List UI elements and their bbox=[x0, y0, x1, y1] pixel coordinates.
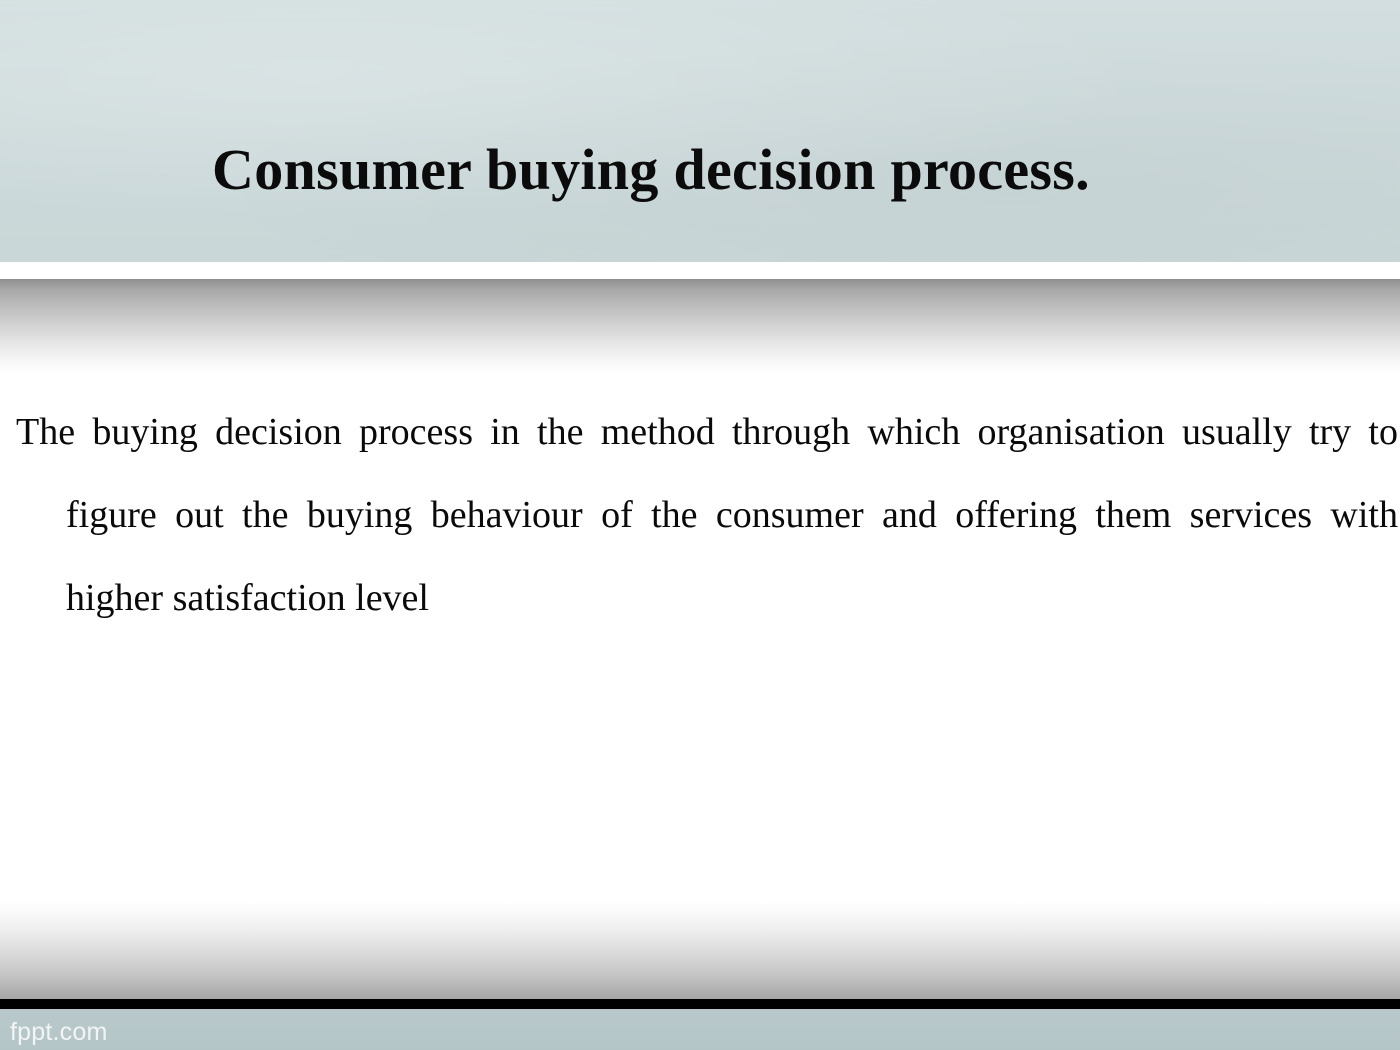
slide-title: Consumer buying decision process. bbox=[0, 135, 1400, 205]
slide-body-area: The buying decision process in the metho… bbox=[0, 374, 1400, 904]
upper-shadow-gradient bbox=[0, 279, 1400, 374]
footer-band: fppt.com bbox=[0, 1009, 1400, 1050]
title-band-gap-divider bbox=[0, 262, 1400, 279]
slide-canvas: Consumer buying decision process. The bu… bbox=[0, 0, 1400, 1050]
fppt-watermark: fppt.com bbox=[10, 1018, 107, 1046]
footer-black-rule bbox=[0, 999, 1400, 1009]
body-paragraph: The buying decision process in the metho… bbox=[16, 391, 1398, 640]
lower-shadow-gradient bbox=[0, 900, 1400, 999]
title-band bbox=[0, 0, 1400, 262]
